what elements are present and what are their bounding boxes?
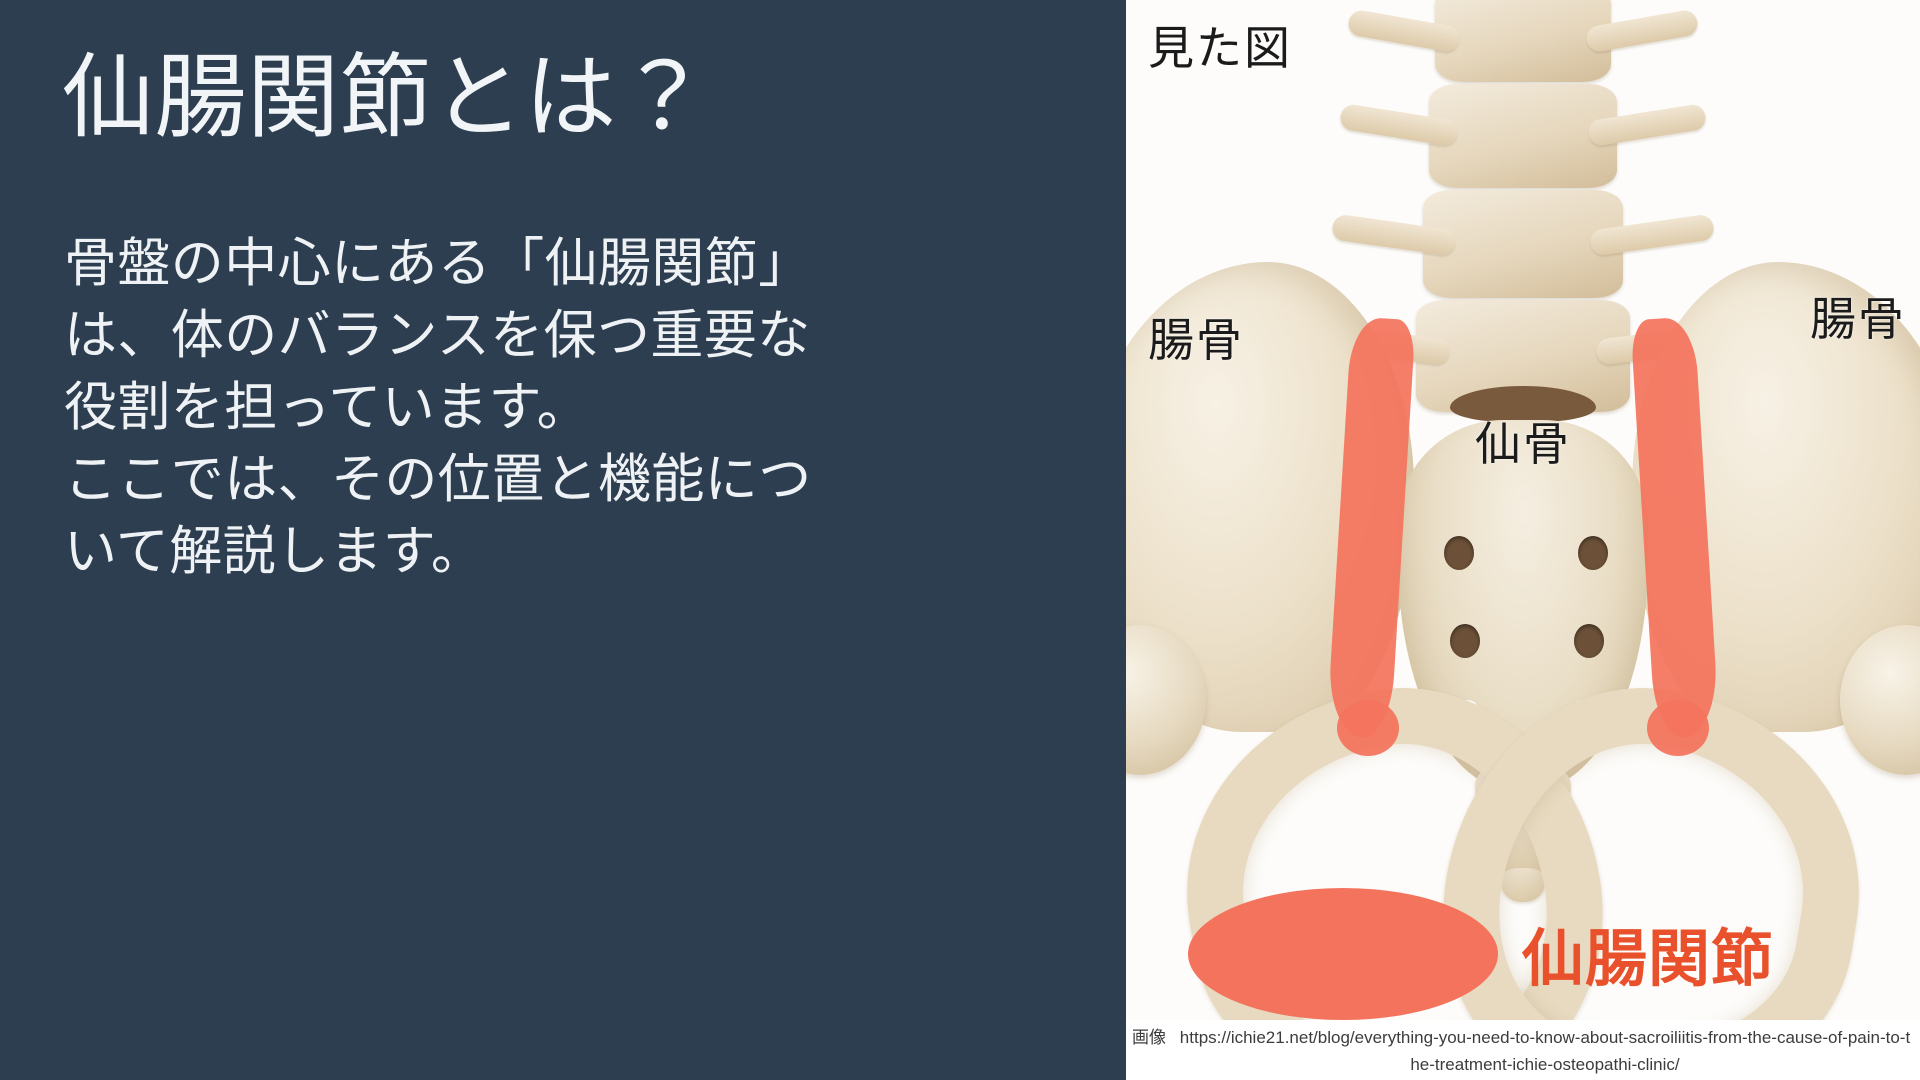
body-line: 役割を担っています。 [64, 372, 1064, 444]
sacrum-label: 仙骨 [1475, 408, 1571, 474]
body-text-block: 骨盤の中心にある「仙腸関節」 は、体のバランスを保つ重要な 役割を担っています。… [64, 228, 1064, 588]
sacral-foramen [1574, 624, 1604, 658]
source-caption: 画像 https://ichie21.net/blog/everything-y… [1126, 1020, 1920, 1080]
sacral-foramen [1444, 536, 1474, 570]
legend-swatch [1188, 888, 1498, 1020]
view-label: 見た図 [1148, 12, 1292, 78]
source-url[interactable]: https://ichie21.net/blog/everything-you-… [1178, 1024, 1912, 1078]
body-line: 骨盤の中心にある「仙腸関節」 [64, 228, 1064, 300]
sacroiliac-joint-highlight-cap-right [1647, 700, 1709, 756]
sacroiliac-joint-highlight-cap-left [1337, 700, 1399, 756]
slide-root: 仙腸関節とは？ 骨盤の中心にある「仙腸関節」 は、体のバランスを保つ重要な 役割… [0, 0, 1920, 1080]
body-line: は、体のバランスを保つ重要な [64, 300, 1064, 372]
pelvis-anatomy-image: 見た図 腸骨 腸骨 仙骨 仙腸関節 [1126, 0, 1920, 1020]
page-title: 仙腸関節とは？ [62, 46, 1082, 152]
body-line: いて解説します。 [64, 516, 1064, 588]
vertebra-bone [1435, 0, 1611, 82]
ilium-label-left: 腸骨 [1148, 304, 1244, 370]
sacral-foramen [1450, 624, 1480, 658]
text-panel: 仙腸関節とは？ 骨盤の中心にある「仙腸関節」 は、体のバランスを保つ重要な 役割… [0, 0, 1126, 1080]
ilium-label-right: 腸骨 [1810, 283, 1906, 349]
legend-label: 仙腸関節 [1522, 908, 1774, 998]
body-line: ここでは、その位置と機能につ [64, 444, 1064, 516]
figure-panel: 見た図 腸骨 腸骨 仙骨 仙腸関節 画像 https://ichie21.net… [1126, 0, 1920, 1080]
sacral-foramen [1578, 536, 1608, 570]
caption-key-label: 画像 [1132, 1024, 1178, 1051]
